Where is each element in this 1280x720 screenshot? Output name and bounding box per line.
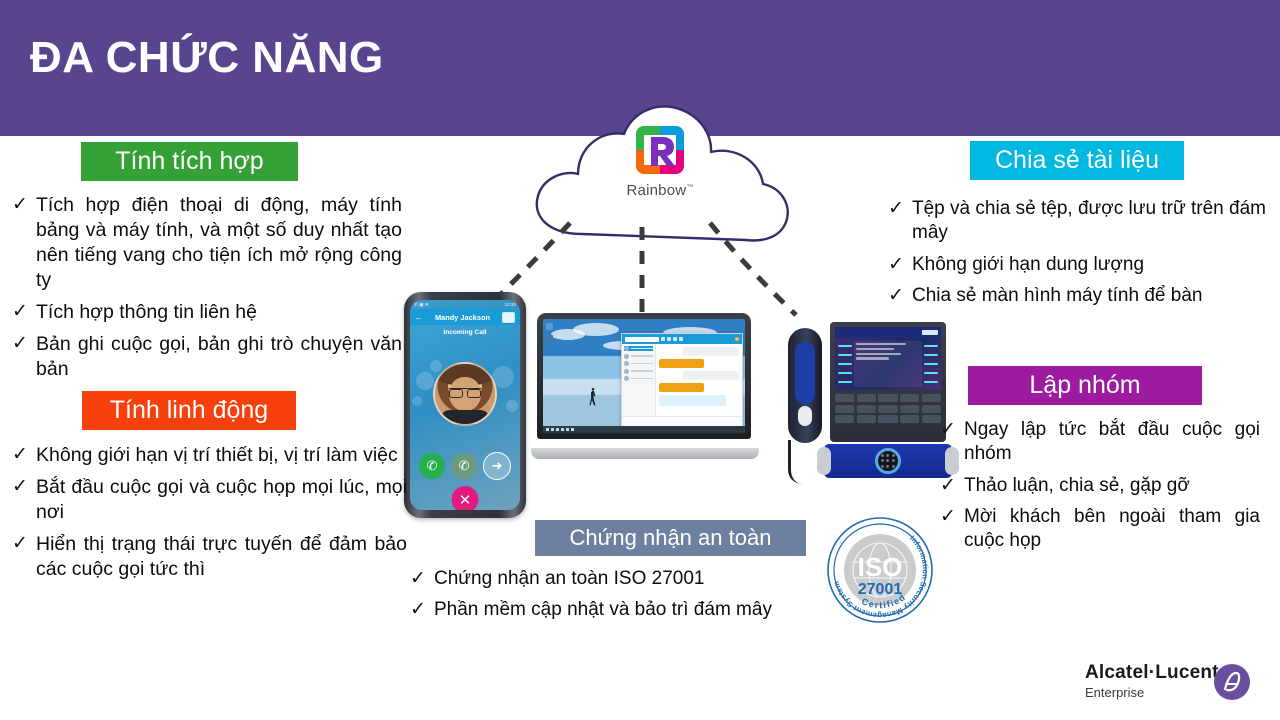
list-item-label: Phần mềm cập nhật và bảo trì đám mây xyxy=(434,598,840,622)
page-title: ĐA CHỨC NĂNG xyxy=(30,33,384,83)
soft-keys-left[interactable] xyxy=(838,341,852,387)
rainbow-wordmark-text: Rainbow xyxy=(627,182,687,199)
bullet-list-grouping: ✓ Ngay lập tức bắt đầu cuộc gọi nhóm ✓ T… xyxy=(940,418,1260,561)
list-item: ✓ Phần mềm cập nhật và bảo trì đám mây xyxy=(410,598,840,622)
app-body xyxy=(622,344,742,416)
desk-phone-screen xyxy=(835,338,941,390)
laptop-lid xyxy=(537,313,751,439)
list-item-label: Mời khách bên ngoài tham gia cuộc họp xyxy=(964,505,1260,554)
slide-canvas: ĐA CHỨC NĂNG Rainbow™ ✆ ▣ ✉ xyxy=(0,0,1280,720)
list-item: ✓ Tích hợp điện thoại di động, máy tính … xyxy=(12,193,402,293)
app-search-input[interactable] xyxy=(625,337,659,342)
list-item-label: Tích hợp thông tin liên hệ xyxy=(36,300,402,325)
message-bubble xyxy=(683,371,739,380)
reject-call-button[interactable]: ✕ xyxy=(452,486,479,510)
check-icon: ✓ xyxy=(12,475,36,499)
check-icon: ✓ xyxy=(410,567,434,591)
list-item: ✓ Hiển thị trạng thái trực tuyến để đảm … xyxy=(12,532,407,582)
list-item[interactable] xyxy=(624,354,653,359)
laptop-base xyxy=(531,448,759,459)
message-bubble xyxy=(683,347,739,356)
soft-keys-right[interactable] xyxy=(924,341,938,387)
check-icon: ✓ xyxy=(888,284,912,308)
app-icon-4[interactable] xyxy=(679,337,683,341)
brand-mark-icon xyxy=(1214,664,1250,700)
section-chip-grouping: Lập nhóm xyxy=(968,366,1202,405)
list-item-label: Ngay lập tức bắt đầu cuộc gọi nhóm xyxy=(964,418,1260,467)
list-item[interactable] xyxy=(624,361,653,366)
list-item: ✓ Không giới hạn vị trí thiết bị, vị trí… xyxy=(12,443,407,468)
list-item-label: Không giới hạn vị trí thiết bị, vị trí l… xyxy=(36,443,407,468)
rainbow-desktop-window[interactable] xyxy=(621,333,743,427)
rainbow-wordmark: Rainbow™ xyxy=(620,182,700,199)
navigation-wheel[interactable] xyxy=(875,448,901,474)
list-item: ✓ Tích hợp thông tin liên hệ xyxy=(12,300,402,325)
desk-phone-keypad[interactable] xyxy=(835,394,941,423)
mute-call-button[interactable]: ✆ xyxy=(451,453,477,479)
list-item-label: Hiển thị trạng thái trực tuyến để đảm bả… xyxy=(36,532,407,582)
check-icon: ✓ xyxy=(12,300,36,324)
list-item-label: Bắt đầu cuộc gọi và cuộc họp mọi lúc, mọ… xyxy=(36,475,407,525)
message-bubble xyxy=(659,359,704,368)
message-bubble xyxy=(659,383,704,392)
app-icon-2[interactable] xyxy=(667,337,671,341)
message-bubble xyxy=(659,395,726,406)
app-titlebar xyxy=(622,334,742,344)
bullet-list-sharing: ✓ Tệp và chia sẻ tệp, được lưu trữ trên … xyxy=(888,197,1266,315)
list-item-label: Bản ghi cuộc gọi, bản ghi trò chuyện văn… xyxy=(36,332,402,382)
laptop-device xyxy=(531,313,759,463)
desk-phone-speaker-base xyxy=(824,444,952,478)
status-left-icons: ✆ ▣ ✉ xyxy=(414,302,429,308)
list-item[interactable] xyxy=(624,376,653,381)
check-icon: ✓ xyxy=(940,418,964,442)
list-item: ✓ Chia sẻ màn hình máy tính để bàn xyxy=(888,284,1266,308)
section-chip-security: Chứng nhận an toàn xyxy=(535,520,806,556)
list-item: ✓ Bản ghi cuộc gọi, bản ghi trò chuyện v… xyxy=(12,332,402,382)
list-item[interactable] xyxy=(624,369,653,374)
app-icon-3[interactable] xyxy=(673,337,677,341)
list-item-label: Tích hợp điện thoại di động, máy tính bả… xyxy=(36,193,402,293)
smartphone-app-bar: ← Mandy Jackson xyxy=(410,309,520,325)
runner-silhouette xyxy=(589,387,597,407)
trademark-symbol: ™ xyxy=(686,184,693,191)
smartphone-screen: ✆ ▣ ✉ 10:30 ← Mandy Jackson Incoming Cal… xyxy=(410,300,520,510)
desk-phone-screen-content xyxy=(854,341,922,387)
alcatel-lucent-logo: Alcatel·Lucent Enterprise xyxy=(1085,662,1250,710)
list-item: ✓ Không giới hạn dung lượng xyxy=(888,253,1266,277)
desk-phone-handset xyxy=(788,328,822,443)
check-icon: ✓ xyxy=(12,532,36,556)
bullet-list-mobility: ✓ Không giới hạn vị trí thiết bị, vị trí… xyxy=(12,443,407,589)
iso-number-text: 27001 xyxy=(858,581,903,598)
iso-standard-text: ISO xyxy=(858,552,903,582)
conversation-pane xyxy=(656,344,742,416)
forward-call-button[interactable]: ➜ xyxy=(483,452,511,480)
list-item: ✓ Thảo luận, chia sẻ, gặp gỡ xyxy=(940,474,1260,498)
list-item: ✓ Bắt đầu cuộc gọi và cuộc họp mọi lúc, … xyxy=(12,475,407,525)
section-chip-sharing: Chia sẻ tài liệu xyxy=(970,141,1184,180)
desk-phone-cord xyxy=(788,440,817,484)
app-avatar-icon[interactable] xyxy=(735,337,739,341)
section-chip-integration: Tính tích hợp xyxy=(81,142,298,181)
list-item-label: Tệp và chia sẻ tệp, được lưu trữ trên đá… xyxy=(912,197,1266,246)
laptop-screen xyxy=(543,319,745,433)
os-taskbar xyxy=(543,426,745,433)
list-item: ✓ Mời khách bên ngoài tham gia cuộc họp xyxy=(940,505,1260,554)
rainbow-logo xyxy=(632,122,688,178)
section-chip-mobility: Tính linh động xyxy=(82,391,296,430)
iso-27001-badge: Information Security Management System C… xyxy=(826,516,934,624)
desk-phone-body xyxy=(830,322,946,442)
list-item: ✓ Tệp và chia sẻ tệp, được lưu trữ trên … xyxy=(888,197,1266,246)
app-icon-1[interactable] xyxy=(661,337,665,341)
check-icon: ✓ xyxy=(410,598,434,622)
chat-icon[interactable] xyxy=(502,312,515,323)
call-status-label: Incoming Call xyxy=(410,329,520,336)
list-item: ✓ Chứng nhận an toàn ISO 27001 xyxy=(410,567,840,591)
check-icon: ✓ xyxy=(12,332,36,356)
list-item-label: Chứng nhận an toàn ISO 27001 xyxy=(434,567,840,591)
conversation-list[interactable] xyxy=(622,344,656,416)
back-icon[interactable]: ← xyxy=(415,313,423,322)
bullet-list-integration: ✓ Tích hợp điện thoại di động, máy tính … xyxy=(12,193,402,389)
desk-phone-brand-bar xyxy=(835,327,941,338)
list-item-label: Chia sẻ màn hình máy tính để bàn xyxy=(912,284,1266,308)
check-icon: ✓ xyxy=(12,193,36,217)
caller-avatar xyxy=(433,362,497,426)
answer-call-button[interactable]: ✆ xyxy=(419,453,445,479)
smartphone-device: ✆ ▣ ✉ 10:30 ← Mandy Jackson Incoming Cal… xyxy=(404,292,526,518)
check-icon: ✓ xyxy=(888,197,912,221)
status-time: 10:30 xyxy=(505,302,517,307)
check-icon: ✓ xyxy=(940,474,964,498)
caller-name: Mandy Jackson xyxy=(427,313,498,322)
list-item: ✓ Ngay lập tức bắt đầu cuộc gọi nhóm xyxy=(940,418,1260,467)
check-icon: ✓ xyxy=(888,253,912,277)
list-item[interactable] xyxy=(624,346,653,351)
list-item-label: Thảo luận, chia sẻ, gặp gỡ xyxy=(964,474,1260,498)
desk-phone-device xyxy=(782,316,950,492)
check-icon: ✓ xyxy=(12,443,36,467)
smartphone-status-bar: ✆ ▣ ✉ 10:30 xyxy=(410,300,520,309)
call-action-row: ✆ ✆ ➜ xyxy=(410,452,520,480)
check-icon: ✓ xyxy=(940,505,964,529)
bullet-list-security: ✓ Chứng nhận an toàn ISO 27001 ✓ Phần mề… xyxy=(410,567,840,630)
list-item-label: Không giới hạn dung lượng xyxy=(912,253,1266,277)
